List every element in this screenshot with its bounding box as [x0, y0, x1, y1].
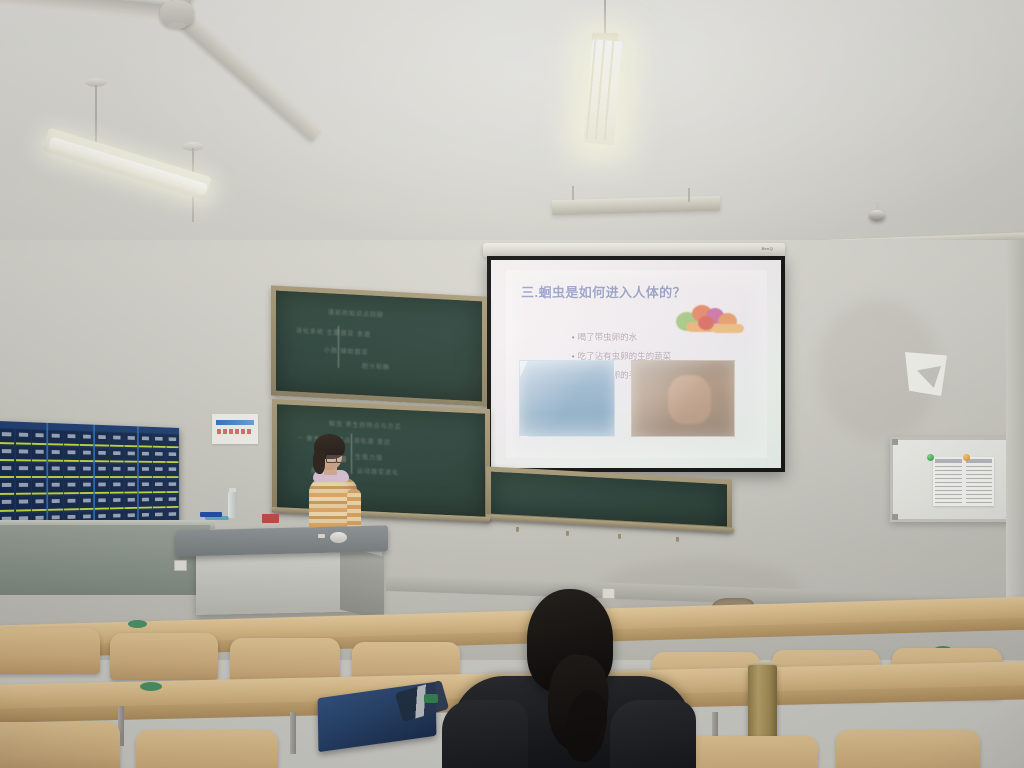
name-card	[0, 446, 14, 461]
name-card	[166, 495, 178, 508]
chair-backrest[interactable]	[110, 633, 218, 680]
name-card	[95, 464, 109, 478]
name-card	[80, 480, 94, 494]
chalk-divider	[338, 326, 339, 368]
schedule-column	[935, 459, 962, 504]
wall-power-socket	[174, 560, 187, 571]
projection-screen-roller-case: BenQ	[483, 243, 785, 257]
chair-backrest[interactable]	[136, 730, 278, 768]
light-cord	[688, 188, 690, 202]
name-card	[0, 497, 14, 512]
gray-lectern-with-control-panel	[176, 525, 388, 556]
card-row	[0, 463, 179, 478]
fan-motor-cap	[168, 22, 186, 29]
name-card	[153, 449, 166, 463]
eyeglasses-lens	[336, 455, 347, 463]
name-card	[139, 434, 152, 448]
chair-backrest[interactable]	[836, 730, 980, 768]
name-card	[0, 429, 14, 444]
name-card	[110, 433, 124, 447]
name-card	[16, 480, 32, 495]
teacher-hair-side	[313, 450, 325, 474]
chalk-tray-peg	[516, 527, 519, 532]
name-card	[80, 496, 94, 510]
name-card	[110, 495, 124, 509]
name-card	[139, 495, 152, 509]
lectern-side-panel	[340, 546, 384, 621]
name-card	[139, 449, 152, 463]
chalk-text-line: 消化系统 主要器官 食道	[296, 326, 371, 339]
name-card	[110, 464, 124, 478]
name-card	[124, 464, 137, 478]
name-card	[16, 446, 32, 461]
chalk-text-line: 小肠 辅助器官	[324, 345, 369, 356]
name-card	[80, 464, 94, 478]
name-card	[32, 463, 47, 478]
name-card	[64, 431, 79, 446]
chalk-text-line: 生殖力强	[355, 452, 383, 462]
name-card	[124, 449, 137, 463]
chalkboard-surface: 课前的知识点回顾 消化系统 主要器官 食道 小肠 辅助器官 胆汁和酶	[276, 291, 482, 402]
chalk-tray-peg	[566, 531, 569, 536]
dirty-hand-photo	[631, 360, 735, 437]
name-card	[16, 463, 32, 478]
chalk-text-line: 运动器官退化	[357, 466, 399, 477]
slide-bullet-item: 喝了带虫卵的水	[572, 331, 672, 343]
name-card	[166, 480, 178, 493]
orange-magnet	[963, 454, 970, 461]
name-card	[48, 431, 63, 446]
chalk-text-line: 胆汁和酶	[362, 361, 390, 371]
name-card	[16, 497, 32, 512]
slide-title: 三.蛔虫是如何进入人体的？	[521, 282, 686, 301]
board-divider	[93, 425, 95, 531]
screen-brand-label: BenQ	[762, 246, 773, 251]
sign-text	[217, 429, 253, 434]
name-card	[80, 448, 94, 462]
name-card	[153, 434, 166, 448]
student-name-card-grid-board	[0, 421, 179, 534]
lectern-button[interactable]	[318, 534, 325, 538]
right-wall-edge	[1006, 240, 1024, 600]
board-divider	[46, 423, 48, 532]
name-card	[166, 435, 178, 449]
name-card	[0, 463, 14, 478]
light-cord	[604, 0, 606, 36]
upper-chalkboard: 课前的知识点回顾 消化系统 主要器官 食道 小肠 辅助器官 胆汁和酶	[271, 285, 487, 406]
name-card	[48, 447, 63, 462]
whiteboard-corner	[892, 514, 898, 520]
name-card	[48, 480, 63, 495]
name-card	[95, 480, 109, 494]
name-card	[153, 495, 166, 509]
name-card	[95, 432, 109, 446]
name-card	[64, 496, 79, 511]
chalk-text-line: 课前的知识点回顾	[328, 307, 384, 319]
name-card	[139, 464, 152, 478]
photo-glare	[520, 361, 614, 436]
name-card	[110, 448, 124, 462]
classroom-photo: BenQ 三.蛔虫是如何进入人体的？ 喝了带虫卵的水 吃了沾有虫卵的生的蔬菜 用…	[0, 0, 1024, 768]
light-cord	[572, 186, 574, 200]
name-card	[110, 480, 124, 494]
board-divider	[137, 426, 139, 528]
name-card	[32, 447, 47, 462]
name-card	[64, 447, 79, 461]
name-card	[64, 480, 79, 494]
water-bottle-on-counter	[228, 492, 237, 518]
name-card	[95, 448, 109, 462]
green-oval-sticker	[128, 620, 147, 628]
green-oval-sticker	[140, 682, 162, 691]
student-shoulder	[442, 700, 528, 768]
dome-security-camera	[869, 210, 885, 221]
right-whiteboard-with-schedule	[890, 437, 1018, 522]
bag-clip[interactable]	[424, 694, 438, 703]
chalk-tray-peg	[618, 534, 621, 539]
student-shoulder	[610, 700, 696, 768]
running-water-photo	[519, 360, 615, 437]
red-box-on-counter	[262, 514, 279, 523]
name-card	[0, 480, 14, 495]
name-card	[95, 496, 109, 510]
sign-banner	[216, 420, 254, 425]
card-row	[0, 446, 179, 463]
name-card	[48, 463, 63, 477]
projection-screen: 三.蛔虫是如何进入人体的？ 喝了带虫卵的水 吃了沾有虫卵的生的蔬菜 用沾有虫卵的…	[487, 256, 785, 472]
name-card	[124, 433, 137, 447]
wall-power-socket	[602, 588, 615, 599]
blue-marker	[200, 512, 222, 517]
name-card	[153, 465, 166, 478]
name-card	[166, 450, 178, 463]
name-card	[32, 430, 47, 445]
desk-leg	[290, 712, 296, 754]
chair-backrest[interactable]	[0, 628, 100, 674]
lower-chalkboard: 蛔虫 寄生的特点与方式 一 寄生 虫的特点 消化道 发达 生殖力强 运动器官退化…	[272, 399, 490, 522]
slide-content-area: 三.蛔虫是如何进入人体的？ 喝了带虫卵的水 吃了沾有虫卵的生的蔬菜 用沾有虫卵的…	[506, 270, 767, 457]
vegetable-pile-illustration	[672, 302, 748, 338]
name-card	[48, 496, 63, 511]
chair-backrest[interactable]	[0, 722, 120, 768]
schedule-column	[966, 459, 993, 504]
chalk-brace	[351, 434, 352, 474]
name-card	[124, 495, 137, 509]
name-card	[16, 430, 32, 445]
name-card	[153, 480, 166, 493]
name-card	[32, 496, 47, 511]
name-card	[32, 480, 47, 495]
name-card	[80, 432, 94, 446]
card-row	[0, 480, 179, 495]
lectern-control-knob[interactable]	[330, 532, 347, 543]
name-card	[124, 480, 137, 494]
photo-glare	[632, 361, 734, 436]
name-card	[64, 464, 79, 478]
two-column-schedule-table	[933, 457, 994, 506]
presentation-slide: 三.蛔虫是如何进入人体的？ 喝了带虫卵的水 吃了沾有虫卵的生的蔬菜 用沾有虫卵的…	[491, 260, 781, 468]
chalk-text-line: 蛔虫 寄生的特点与方式	[329, 419, 402, 431]
blue-red-wall-sign	[212, 414, 258, 444]
name-card	[166, 465, 178, 478]
whiteboard-corner	[892, 439, 898, 445]
name-card	[139, 480, 152, 494]
chalk-tray-peg	[676, 537, 679, 542]
